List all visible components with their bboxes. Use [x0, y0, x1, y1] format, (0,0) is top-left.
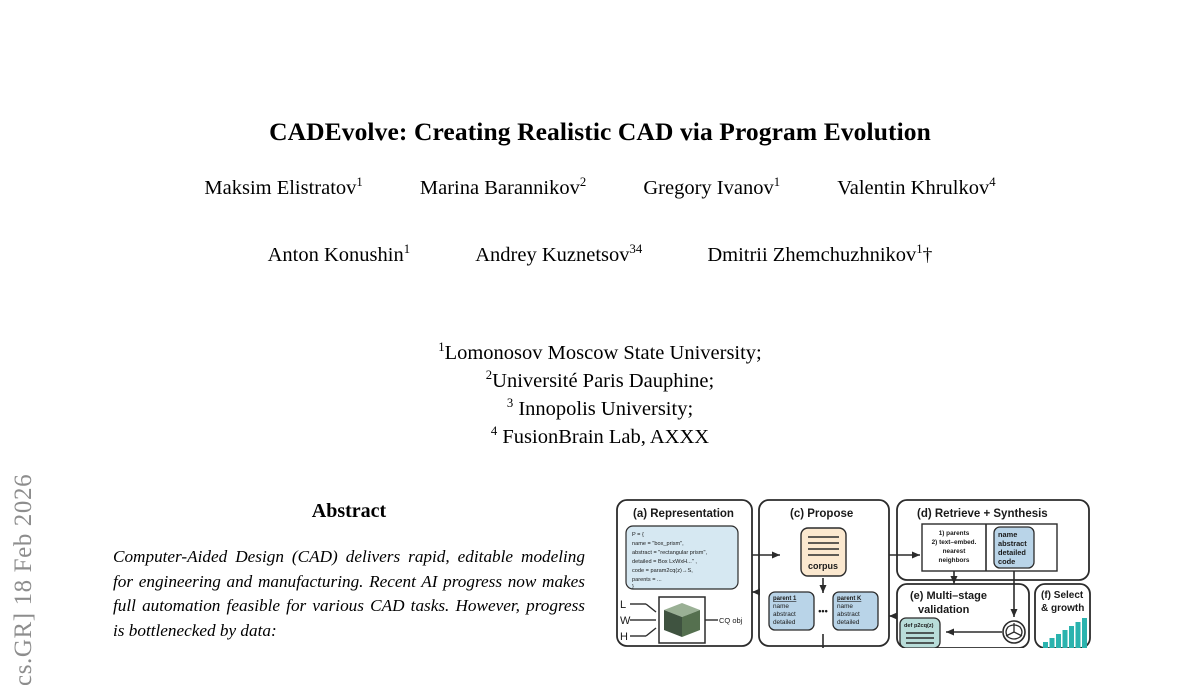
parent-k-field-abstract: abstract [837, 611, 860, 618]
pipeline-figure: (a) Representation P = { name = "box_pri… [612, 496, 1092, 648]
cq-object-label: CQ obj [719, 616, 743, 625]
panel-e-label-line2: validation [918, 604, 970, 616]
param-label-l: L [620, 599, 626, 611]
growth-bar-chart [1043, 618, 1087, 648]
affiliation-3: 3 Innopolis University; [0, 395, 1200, 423]
code-line-6: parents = ... [632, 577, 662, 583]
author-dmitrii-zhemchuzhnikov: Dmitrii Zhemchuzhnikov1† [707, 244, 932, 267]
parent-box-k: parent K name abstract detailed [833, 592, 878, 630]
panel-f-label-line2: & growth [1041, 603, 1084, 614]
parent-k-field-name: name [837, 603, 853, 610]
llm-model-icon [1003, 621, 1025, 643]
parent-1-field-detailed: detailed [773, 619, 796, 626]
author-affiliation-marker: 2 [580, 175, 586, 189]
affiliation-text: Innopolis University; [513, 398, 693, 420]
panel-d-retrieve-synthesis: (d) Retrieve + Synthesis 1) parents 2) t… [897, 500, 1089, 580]
author-andrey-kuznetsov: Andrey Kuznetsov34 [475, 244, 642, 267]
author-marina-barannikov: Marina Barannikov2 [420, 177, 586, 200]
code-line-1: P = { [632, 532, 644, 538]
affiliation-2: 2Université Paris Dauphine; [0, 367, 1200, 395]
code-line-5: code = param2cq(z)→S, [632, 568, 693, 574]
author-row-1: Maksim Elistratov1 Marina Barannikov2 Gr… [0, 177, 1200, 200]
affiliation-text: FusionBrain Lab, AXXX [497, 426, 709, 448]
author-row-2: Anton Konushin1 Andrey Kuznetsov34 Dmitr… [0, 244, 1200, 267]
author-dagger: † [923, 245, 933, 266]
author-affiliation-marker: 34 [630, 242, 643, 256]
affiliation-1: 1Lomonosov Moscow State University; [0, 339, 1200, 367]
panel-c-label: (c) Propose [790, 508, 853, 520]
parent-k-field-detailed: detailed [837, 619, 860, 626]
author-name: Gregory Ivanov [643, 177, 773, 199]
synthesis-field-detailed: detailed [998, 548, 1026, 557]
synthesis-field-code: code [998, 557, 1015, 566]
retrieve-line-2: 2) text–embed. [932, 539, 977, 546]
author-name: Anton Konushin [268, 244, 404, 266]
author-name: Maksim Elistratov [204, 177, 356, 199]
affiliations-block: 1Lomonosov Moscow State University; 2Uni… [0, 339, 1200, 451]
author-affiliation-marker: 1 [404, 242, 410, 256]
author-name: Valentin Khrulkov [837, 177, 989, 199]
retrieve-line-3: nearest [943, 548, 967, 555]
parent-box-1: parent 1 name abstract detailed [769, 592, 814, 630]
panel-f-label-line1: (f) Select [1041, 590, 1084, 601]
arxiv-stamp: cs.GR] 18 Feb 2026 [10, 246, 38, 686]
panel-d-label: (d) Retrieve + Synthesis [917, 508, 1048, 520]
panel-a-representation: (a) Representation P = { name = "box_pri… [617, 500, 752, 646]
author-anton-konushin: Anton Konushin1 [268, 244, 410, 267]
author-affiliation-marker: 4 [989, 175, 995, 189]
parent-1-field-name: name [773, 603, 789, 610]
code-line-7: } [632, 584, 634, 590]
parent-1-title: parent 1 [773, 596, 797, 602]
retrieve-line-1: 1) parents [939, 530, 970, 537]
author-name: Andrey Kuznetsov [475, 244, 629, 266]
retrieve-line-4: neighbors [939, 557, 970, 564]
panel-a-label: (a) Representation [633, 508, 734, 520]
author-gregory-ivanov: Gregory Ivanov1 [643, 177, 780, 200]
author-valentin-khrulkov: Valentin Khrulkov4 [837, 177, 995, 200]
code-line-4: detailed = Box LxWxH..." , [632, 559, 697, 565]
corpus-label: corpus [808, 561, 838, 571]
author-affiliation-marker: 1 [774, 175, 780, 189]
abstract-heading: Abstract [113, 500, 585, 523]
panel-e-multistage-validation: (e) Multi–stage validation def p2cq(z) [897, 584, 1029, 648]
author-maksim-elistratov: Maksim Elistratov1 [204, 177, 362, 200]
author-name: Dmitrii Zhemchuzhnikov [707, 244, 916, 266]
panel-e-label-line1: (e) Multi–stage [910, 590, 987, 602]
parent-k-title: parent K [837, 596, 862, 602]
param-label-w: W [620, 615, 631, 627]
abstract-body: Computer-Aided Design (CAD) delivers rap… [113, 545, 585, 643]
page-title: CADEvolve: Creating Realistic CAD via Pr… [0, 117, 1200, 147]
panel-c-propose: (c) Propose corpus parent 1 name abstrac… [759, 500, 889, 648]
affiliation-text: Lomonosov Moscow State University; [445, 342, 762, 364]
author-name: Marina Barannikov [420, 177, 580, 199]
parents-ellipsis: ••• [818, 606, 827, 616]
synthesis-field-abstract: abstract [998, 539, 1027, 548]
affiliation-4: 4 FusionBrain Lab, AXXX [0, 423, 1200, 451]
panel-f-select-growth: (f) Select & growth [1035, 584, 1090, 648]
code-line-3: abstract = "rectangular prism", [632, 550, 707, 556]
parent-1-field-abstract: abstract [773, 611, 796, 618]
validation-code-label: def p2cq(z) [904, 623, 934, 629]
param-label-h: H [620, 631, 628, 643]
cube-icon [664, 603, 700, 637]
affiliation-text: Université Paris Dauphine; [492, 370, 714, 392]
synthesis-field-name: name [998, 530, 1017, 539]
code-line-2: name = "box_prism", [632, 541, 684, 547]
author-affiliation-marker: 1 [356, 175, 362, 189]
validation-doc-icon: def p2cq(z) [900, 618, 940, 648]
